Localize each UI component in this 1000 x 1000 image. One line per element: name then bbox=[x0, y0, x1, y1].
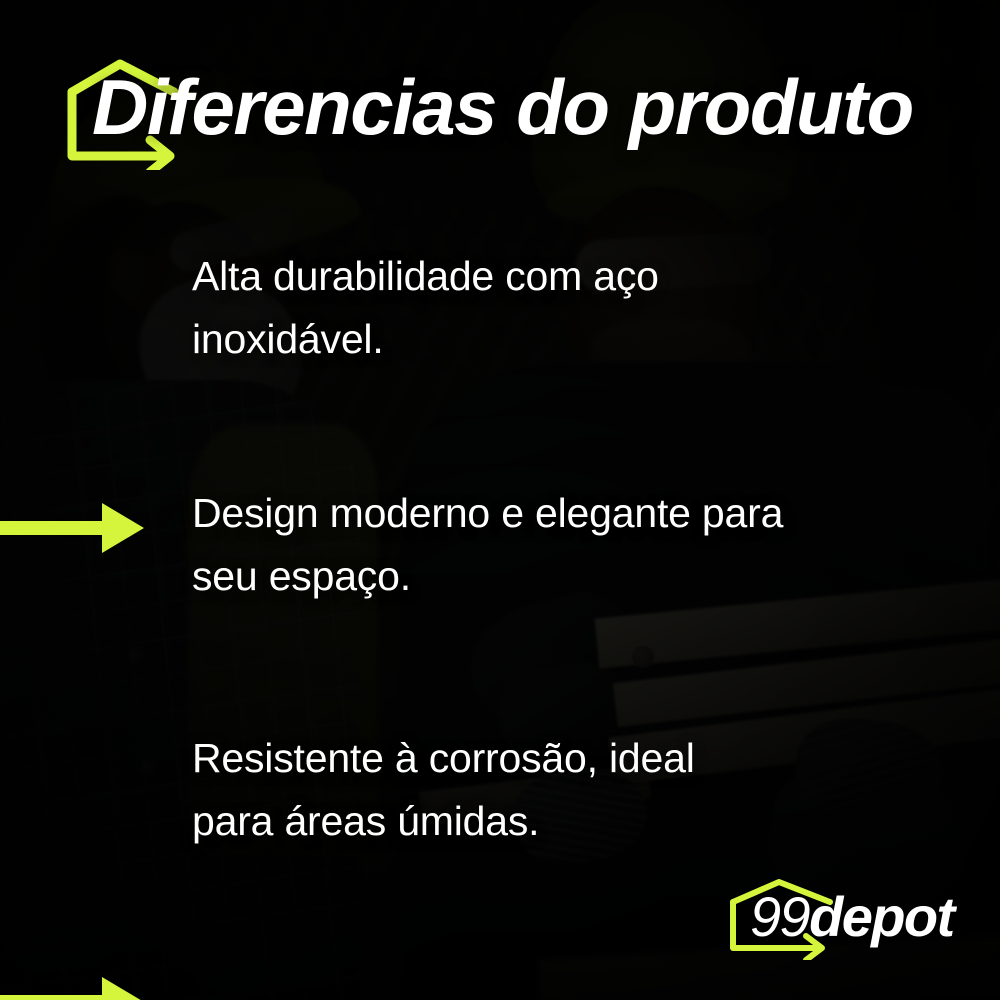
logo-suffix: depot bbox=[809, 885, 953, 948]
title-block: Diferencias do produto bbox=[0, 48, 1000, 178]
logo-wordmark: 99depot bbox=[750, 880, 954, 954]
poster-canvas: Diferencias do produto Alta durabilidade… bbox=[0, 0, 1000, 1000]
brand-logo: 99depot bbox=[726, 876, 944, 962]
arrow-right-icon bbox=[0, 500, 148, 556]
feature-text: Alta durabilidade com aço inoxidável. bbox=[192, 245, 659, 371]
poster-content: Diferencias do produto Alta durabilidade… bbox=[0, 0, 1000, 1000]
feature-text: Design moderno e elegante para seu espaç… bbox=[192, 482, 783, 608]
logo-prefix: 99 bbox=[750, 885, 809, 948]
arrow-right-icon bbox=[0, 974, 148, 1000]
feature-text: Resistente à corrosão, ideal para áreas … bbox=[192, 727, 695, 853]
page-title: Diferencias do produto bbox=[92, 48, 913, 166]
